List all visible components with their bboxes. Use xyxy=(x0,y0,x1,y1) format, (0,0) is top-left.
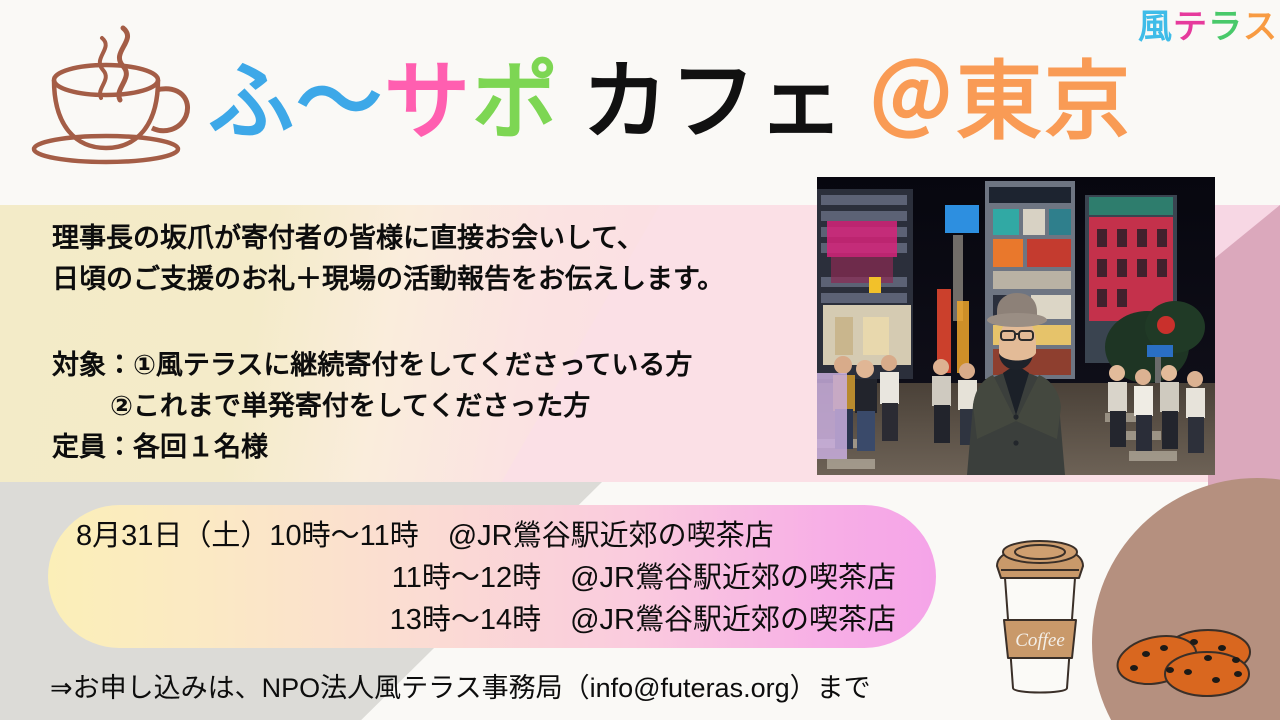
eligibility-line-2: ②これまで単発寄付をしてくださった方 xyxy=(52,386,812,427)
title-part-tokyo: ＠東京 xyxy=(868,42,1132,162)
event-photo xyxy=(817,177,1215,475)
intro-line-2: 日頃のご支援のお礼＋現場の活動報告をお伝えします。 xyxy=(52,259,792,300)
schedule-row-2: 11時〜12時 @JR鶯谷駅近郊の喫茶店 xyxy=(66,557,926,599)
schedule-row-1: 8月31日（土）10時〜11時 @JR鶯谷駅近郊の喫茶店 xyxy=(66,515,926,557)
page-title: ふ〜サポカフェ＠東京 xyxy=(208,42,1132,162)
coffee-cup-icon xyxy=(28,8,208,168)
capacity-line: 定員：各回１名様 xyxy=(52,427,812,468)
schedule-panel: 8月31日（土）10時〜11時 @JR鶯谷駅近郊の喫茶店 11時〜12時 @JR… xyxy=(48,505,936,648)
cup-label: Coffee xyxy=(1015,630,1065,651)
poster-root: 風テラス ふ〜サポカフェ＠東京 理事長の坂爪が寄付者の皆様に直接お会いして、 日… xyxy=(0,0,1280,720)
eligibility-line-1: 対象：①風テラスに継続寄付をしてくださっている方 xyxy=(52,345,812,386)
intro-text: 理事長の坂爪が寄付者の皆様に直接お会いして、 日頃のご支援のお礼＋現場の活動報告… xyxy=(52,218,792,300)
brand-logo-part-2: テ xyxy=(1173,4,1208,50)
brand-logo-part-4: ス xyxy=(1243,4,1278,50)
application-contact-text: ⇒お申し込みは、NPO法人風テラス事務局（info@futeras.org）まで xyxy=(50,666,871,705)
intro-line-1: 理事長の坂爪が寄付者の皆様に直接お会いして、 xyxy=(52,218,792,259)
takeaway-coffee-cup-icon: Coffee xyxy=(975,520,1105,700)
title-part-sa: サ xyxy=(384,42,472,162)
schedule-rows: 8月31日（土）10時〜11時 @JR鶯谷駅近郊の喫茶店 11時〜12時 @JR… xyxy=(66,515,926,641)
brand-logo-part-1: 風 xyxy=(1138,4,1173,50)
title-part-fu: ふ〜 xyxy=(208,42,384,162)
futeras-brand-logo: 風テラス xyxy=(1138,4,1266,50)
cookies-icon xyxy=(1112,610,1262,700)
schedule-row-3: 13時〜14時 @JR鶯谷駅近郊の喫茶店 xyxy=(66,599,926,641)
title-part-cafe: カフェ xyxy=(582,42,846,162)
eligibility-text: 対象：①風テラスに継続寄付をしてくださっている方 ②これまで単発寄付をしてくださ… xyxy=(52,345,812,468)
title-part-po: ポ xyxy=(472,42,560,162)
brand-logo-part-3: ラ xyxy=(1208,4,1243,50)
